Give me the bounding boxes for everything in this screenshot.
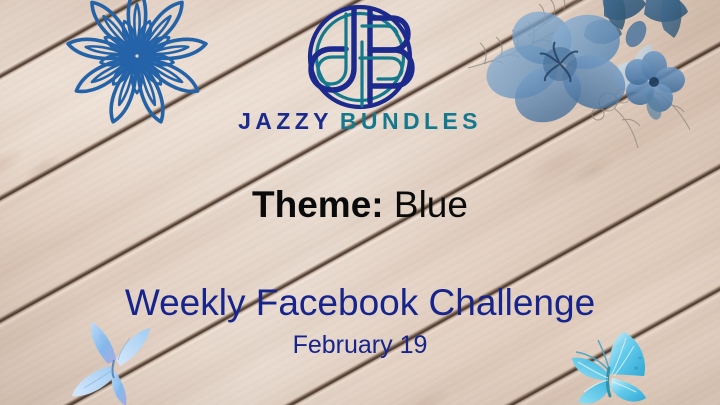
butterfly-right-icon bbox=[548, 328, 672, 405]
brand-word-jazzy: JAZZY bbox=[238, 108, 333, 134]
theme-headline: Theme: Blue bbox=[0, 185, 720, 226]
slide-canvas: JAZZYBUNDLES Theme: Blue Weekly Facebook… bbox=[0, 0, 720, 405]
butterfly-left-icon bbox=[66, 320, 162, 405]
challenge-title: Weekly Facebook Challenge bbox=[0, 283, 720, 324]
brand-word-bundles: BUNDLES bbox=[340, 108, 482, 134]
jazzy-bundles-monogram-icon bbox=[294, 2, 426, 112]
brand-wordmark: JAZZYBUNDLES bbox=[238, 110, 482, 133]
brand-logo: JAZZYBUNDLES bbox=[0, 2, 720, 133]
theme-label: Theme: bbox=[252, 184, 384, 225]
theme-value: Blue bbox=[394, 184, 468, 225]
